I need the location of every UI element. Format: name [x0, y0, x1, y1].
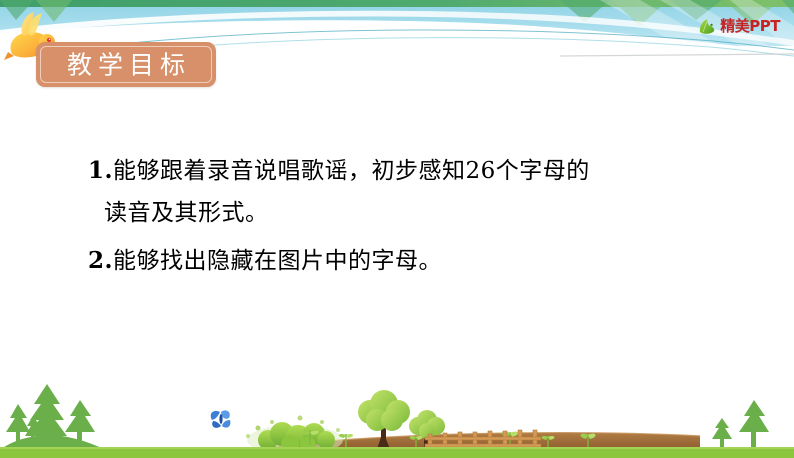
bullet-text-line1: 能够跟着录音说唱歌谣，初步感知26个字母的	[113, 158, 590, 184]
pine-trees-left	[0, 384, 108, 450]
footer-scenery	[0, 378, 794, 458]
brand-logo[interactable]: 精美PPT	[697, 16, 780, 36]
page-title: 教学目标	[36, 52, 216, 77]
logo-text: 精美PPT	[720, 19, 780, 34]
list-item: 2.能够找出隐藏在图片中的字母。	[88, 240, 688, 282]
slide-canvas: 精美PPT 教学目标 1.能够跟着录音说唱歌谣，初步感知26个字母的 读音及其形…	[0, 0, 794, 458]
list-item: 1.能够跟着录音说唱歌谣，初步感知26个字母的 读音及其形式。	[88, 150, 688, 234]
bullet-text-line1: 能够找出隐藏在图片中的字母。	[113, 248, 442, 274]
section-title-badge: 教学目标	[36, 42, 216, 87]
bullet-number: 1.	[88, 157, 113, 184]
bullet-text-line2: 读音及其形式。	[88, 192, 688, 234]
bullet-number: 2.	[88, 247, 113, 274]
pine-trees-right	[712, 400, 769, 449]
blue-butterfly-icon	[211, 410, 231, 427]
footer-scenery-graphic	[0, 378, 794, 458]
objectives-list: 1.能够跟着录音说唱歌谣，初步感知26个字母的 读音及其形式。 2.能够找出隐藏…	[88, 150, 688, 282]
green-leaf-bird-icon	[697, 16, 717, 36]
